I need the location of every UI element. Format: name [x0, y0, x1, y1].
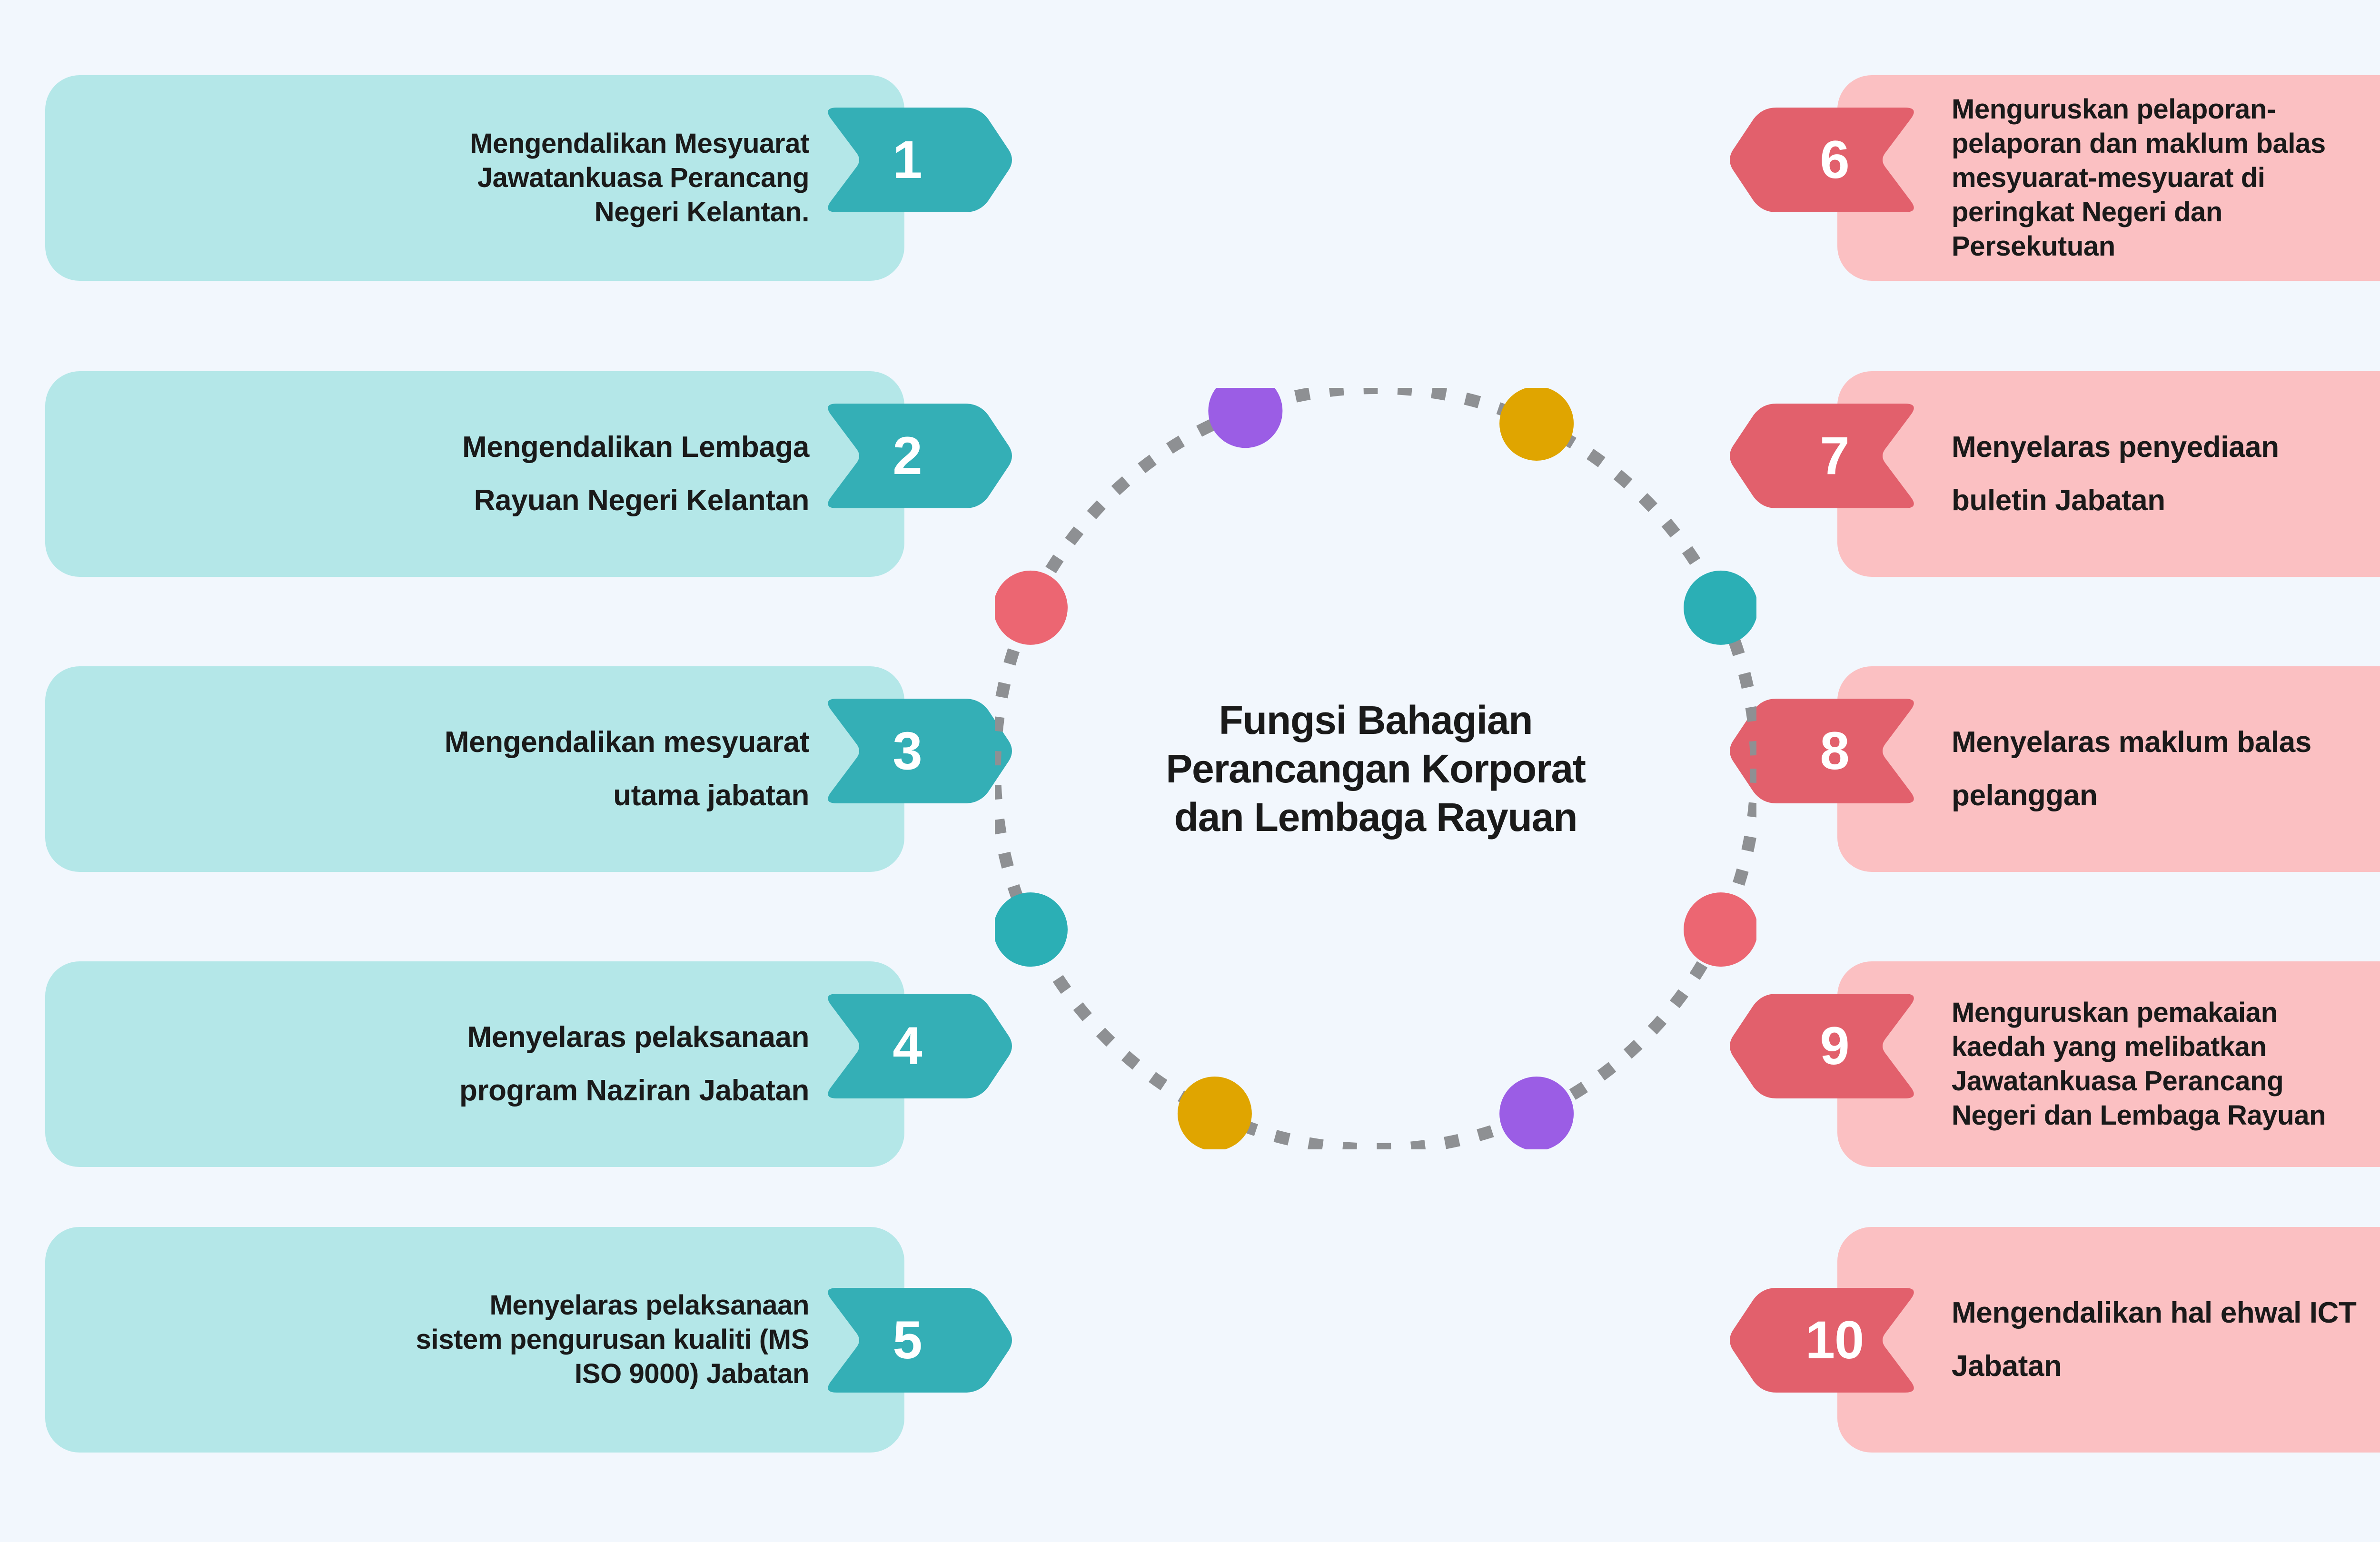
- step-number-label-5: 5: [892, 1314, 922, 1367]
- function-card-4[interactable]: Menyelaras pelaksanaanprogram Naziran Ja…: [45, 961, 904, 1167]
- function-card-9-line-1: Menguruskan pemakaian: [1952, 996, 2278, 1030]
- step-number-label-10: 10: [1805, 1314, 1864, 1367]
- step-number-badge-8[interactable]: 8: [1729, 692, 1919, 810]
- function-card-5-line-1: Menyelaras pelaksanaan: [490, 1288, 809, 1323]
- center-hub: Fungsi BahagianPerancangan Korporatdan L…: [995, 388, 1756, 1149]
- function-card-6-line-3: mesyuarat-mesyuarat di: [1952, 161, 2265, 195]
- center-title-line-1: Fungsi Bahagian: [1095, 696, 1656, 744]
- function-card-2-line-1: Mengendalikan Lembaga: [462, 421, 809, 474]
- function-card-10-line-1: Mengendalikan hal ehwal ICT: [1952, 1286, 2356, 1340]
- function-card-8-line-1: Menyelaras maklum balas: [1952, 716, 2311, 769]
- function-card-1-line-2: Jawatankuasa Perancang: [477, 161, 809, 195]
- function-card-3-line-2: utama jabatan: [613, 769, 809, 822]
- function-card-text-5: Menyelaras pelaksanaansistem pengurusan …: [102, 1227, 809, 1453]
- function-card-text-3: Mengendalikan mesyuaratutama jabatan: [102, 666, 809, 872]
- step-number-badge-1[interactable]: 1: [823, 101, 1013, 219]
- step-number-label-8: 8: [1820, 724, 1849, 778]
- function-card-7-line-1: Menyelaras penyediaan: [1952, 421, 2279, 474]
- function-card-text-8: Menyelaras maklum balaspelanggan: [1952, 666, 2380, 872]
- function-card-text-6: Menguruskan pelaporan-pelaporan dan makl…: [1952, 75, 2380, 281]
- function-card-3-line-1: Mengendalikan mesyuarat: [445, 716, 809, 769]
- center-title: Fungsi BahagianPerancangan Korporatdan L…: [1095, 696, 1656, 841]
- function-card-5-line-3: ISO 9000) Jabatan: [575, 1357, 809, 1391]
- function-card-5[interactable]: Menyelaras pelaksanaansistem pengurusan …: [45, 1227, 904, 1453]
- dot-purple-top-left: [1208, 388, 1282, 448]
- function-card-4-line-1: Menyelaras pelaksanaan: [467, 1011, 809, 1064]
- step-number-badge-10[interactable]: 10: [1729, 1281, 1919, 1399]
- function-card-2-line-2: Rayuan Negeri Kelantan: [474, 474, 809, 527]
- function-card-text-10: Mengendalikan hal ehwal ICTJabatan: [1952, 1227, 2380, 1453]
- dot-yellow-top-right: [1499, 388, 1574, 461]
- infographic-canvas: Mengendalikan MesyuaratJawatankuasa Pera…: [0, 0, 2380, 1542]
- function-card-text-7: Menyelaras penyediaanbuletin Jabatan: [1952, 371, 2380, 577]
- function-card-2[interactable]: Mengendalikan LembagaRayuan Negeri Kelan…: [45, 371, 904, 577]
- dot-yellow-bottom-left: [1178, 1077, 1252, 1149]
- function-card-1-line-1: Mengendalikan Mesyuarat: [470, 127, 809, 161]
- function-card-text-9: Menguruskan pemakaiankaedah yang melibat…: [1952, 961, 2380, 1167]
- dot-teal-left-lower: [995, 892, 1068, 967]
- function-card-6-line-1: Menguruskan pelaporan-: [1952, 92, 2276, 127]
- step-number-label-7: 7: [1820, 429, 1849, 483]
- function-card-9-line-3: Jawatankuasa Perancang: [1952, 1064, 2283, 1098]
- step-number-badge-6[interactable]: 6: [1729, 101, 1919, 219]
- step-number-label-2: 2: [892, 429, 922, 483]
- function-card-9-line-4: Negeri dan Lembaga Rayuan: [1952, 1098, 2326, 1133]
- step-number-label-9: 9: [1820, 1019, 1849, 1073]
- function-card-5-line-2: sistem pengurusan kualiti (MS: [416, 1323, 809, 1357]
- step-number-badge-7[interactable]: 7: [1729, 397, 1919, 515]
- function-card-text-2: Mengendalikan LembagaRayuan Negeri Kelan…: [102, 371, 809, 577]
- step-number-badge-9[interactable]: 9: [1729, 987, 1919, 1105]
- step-number-badge-2[interactable]: 2: [823, 397, 1013, 515]
- function-card-6-line-2: pelaporan dan maklum balas: [1952, 127, 2326, 161]
- function-card-3[interactable]: Mengendalikan mesyuaratutama jabatan: [45, 666, 904, 872]
- dot-teal-right-upper: [1684, 571, 1756, 645]
- dot-purple-bottom-right: [1499, 1077, 1574, 1149]
- function-card-1[interactable]: Mengendalikan MesyuaratJawatankuasa Pera…: [45, 75, 904, 281]
- center-title-line-3: dan Lembaga Rayuan: [1095, 793, 1656, 841]
- step-number-label-3: 3: [892, 724, 922, 778]
- function-card-6-line-4: peringkat Negeri dan: [1952, 195, 2222, 229]
- center-title-line-2: Perancangan Korporat: [1095, 744, 1656, 793]
- dot-red-right-lower: [1684, 892, 1756, 967]
- step-number-badge-5[interactable]: 5: [823, 1281, 1013, 1399]
- function-card-text-1: Mengendalikan MesyuaratJawatankuasa Pera…: [102, 75, 809, 281]
- function-card-9-line-2: kaedah yang melibatkan: [1952, 1030, 2267, 1064]
- function-card-8-line-2: pelanggan: [1952, 769, 2097, 822]
- function-card-1-line-3: Negeri Kelantan.: [595, 195, 809, 229]
- function-card-10-line-2: Jabatan: [1952, 1340, 2062, 1393]
- dot-red-left-upper: [995, 571, 1068, 645]
- function-card-7-line-2: buletin Jabatan: [1952, 474, 2165, 527]
- step-number-badge-4[interactable]: 4: [823, 987, 1013, 1105]
- step-number-label-4: 4: [892, 1019, 922, 1073]
- step-number-label-6: 6: [1820, 133, 1849, 187]
- function-card-4-line-2: program Naziran Jabatan: [459, 1064, 809, 1117]
- function-card-6-line-5: Persekutuan: [1952, 229, 2115, 264]
- step-number-label-1: 1: [892, 133, 922, 187]
- function-card-text-4: Menyelaras pelaksanaanprogram Naziran Ja…: [102, 961, 809, 1167]
- step-number-badge-3[interactable]: 3: [823, 692, 1013, 810]
